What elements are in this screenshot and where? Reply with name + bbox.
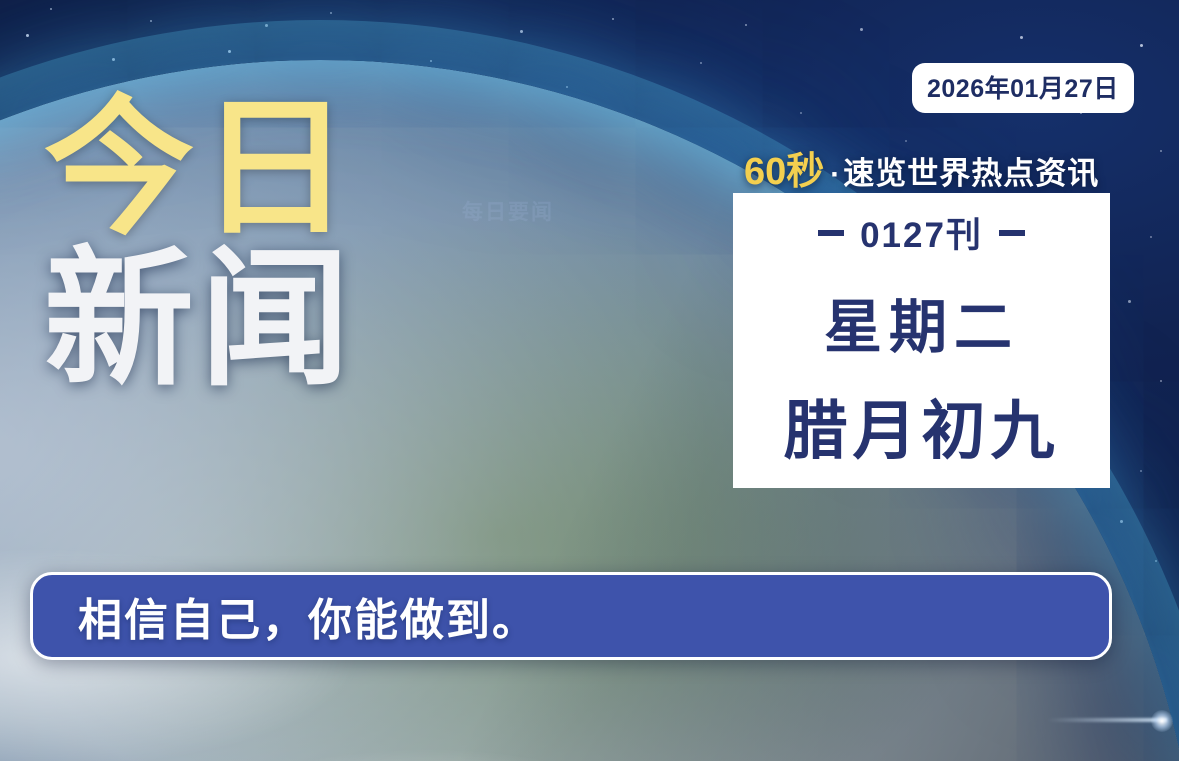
weekday-label: 星期二 [824,280,1019,364]
tagline: 60秒·速览世界热点资讯 [744,140,1099,195]
news-poster: 每日要闻 今日 新闻 2026年01月27日 60秒·速览世界热点资讯 0127… [0,0,1179,761]
headline-line-news: 新闻 [44,247,356,394]
watermark-text: 每日要闻 [462,196,554,226]
bright-star-icon [1151,710,1173,732]
date-badge: 2026年01月27日 [912,63,1134,113]
tagline-highlight: 60秒 [744,151,824,193]
lens-flare-streak [1047,718,1167,722]
issue-number: 0127刊 [860,207,983,258]
info-card: 0127刊 星期二 腊月初九 [733,193,1110,488]
dash-left-icon [818,230,844,236]
issue-row: 0127刊 [818,207,1025,258]
tagline-rest: 速览世界热点资讯 [843,156,1099,191]
headline-line-today: 今日 [44,96,356,243]
tagline-separator: · [830,158,840,191]
headline: 今日 新闻 [44,96,356,394]
quote-bar: 相信自己，你能做到。 [30,572,1112,660]
quote-text: 相信自己，你能做到。 [78,584,538,648]
dash-right-icon [999,230,1025,236]
lunar-date-label: 腊月初九 [784,380,1060,472]
